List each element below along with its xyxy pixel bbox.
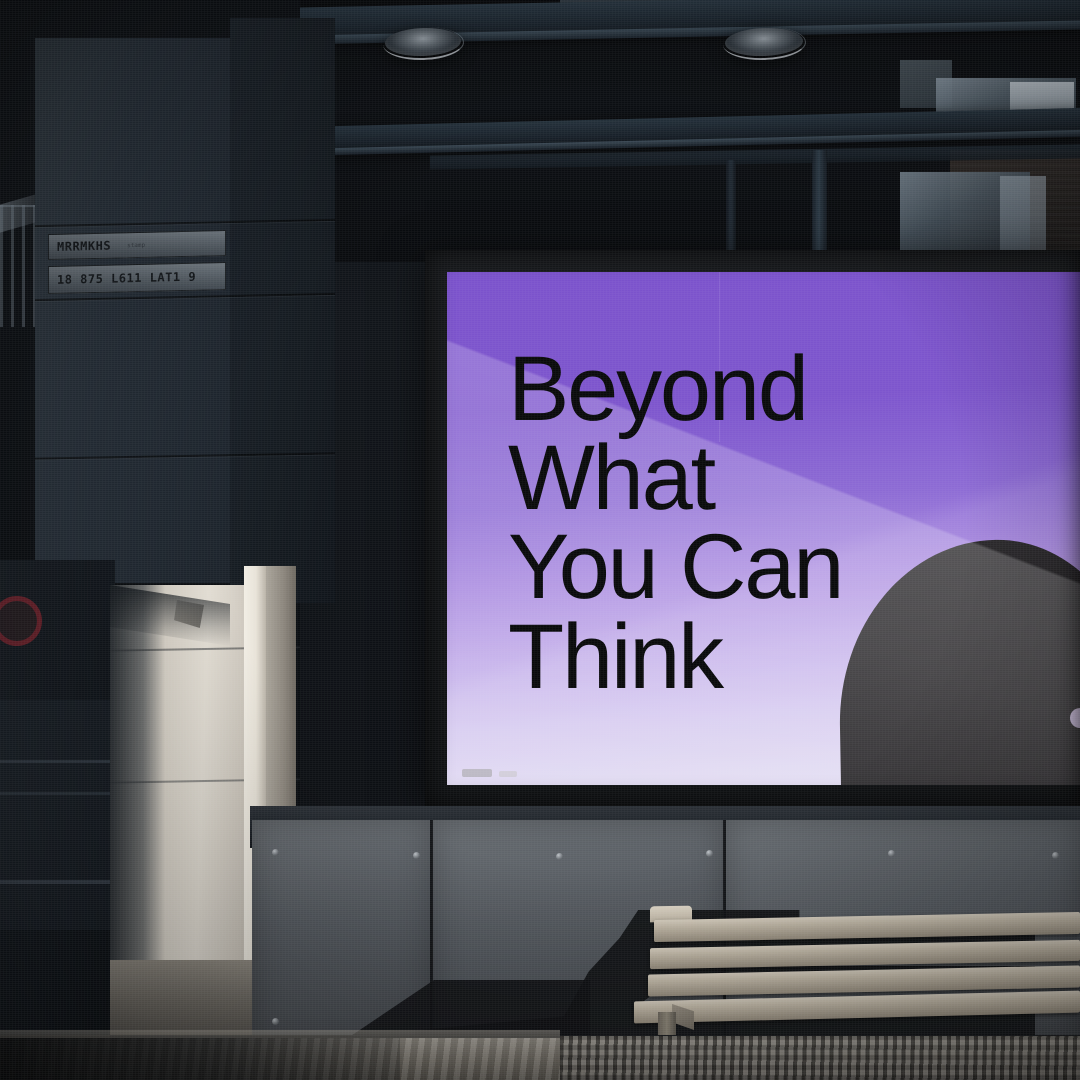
plaque-line-1-sub: stamp — [127, 241, 145, 248]
pavement-cobblestone — [560, 1036, 1080, 1080]
hoarding-bolt-4 — [706, 850, 713, 857]
left-background-structure — [0, 700, 118, 930]
billboard-frame-inner-shadow — [425, 250, 1080, 806]
left-structure-line-1 — [0, 760, 112, 763]
column-plaque-lower: 18 875 L611 LAT1 9 — [48, 262, 226, 294]
hoarding-bolt-3 — [556, 853, 563, 860]
hoarding-bolt-2 — [413, 852, 420, 859]
left-structure-line-3 — [0, 880, 112, 884]
plaque-line-1: MRRMKHS — [57, 239, 111, 254]
column-plaque-upper: MRRMKHS stamp — [48, 230, 226, 260]
concrete-column-face-front — [35, 38, 230, 583]
hoarding-bolt-6 — [1052, 852, 1059, 859]
hoarding-bolt-7 — [272, 1018, 279, 1025]
pavement-shadow-left — [0, 1038, 400, 1080]
hoarding-bolt-1 — [272, 849, 279, 856]
hoarding-bolt-5 — [888, 850, 895, 857]
billboard-street-scene: MRRMKHS stamp 18 875 L611 LAT1 9 Beyond … — [0, 0, 1080, 1080]
concrete-column-face-side — [230, 18, 335, 603]
plaque-line-2: 18 875 L611 LAT1 9 — [57, 270, 196, 287]
left-structure-line-2 — [0, 792, 112, 795]
